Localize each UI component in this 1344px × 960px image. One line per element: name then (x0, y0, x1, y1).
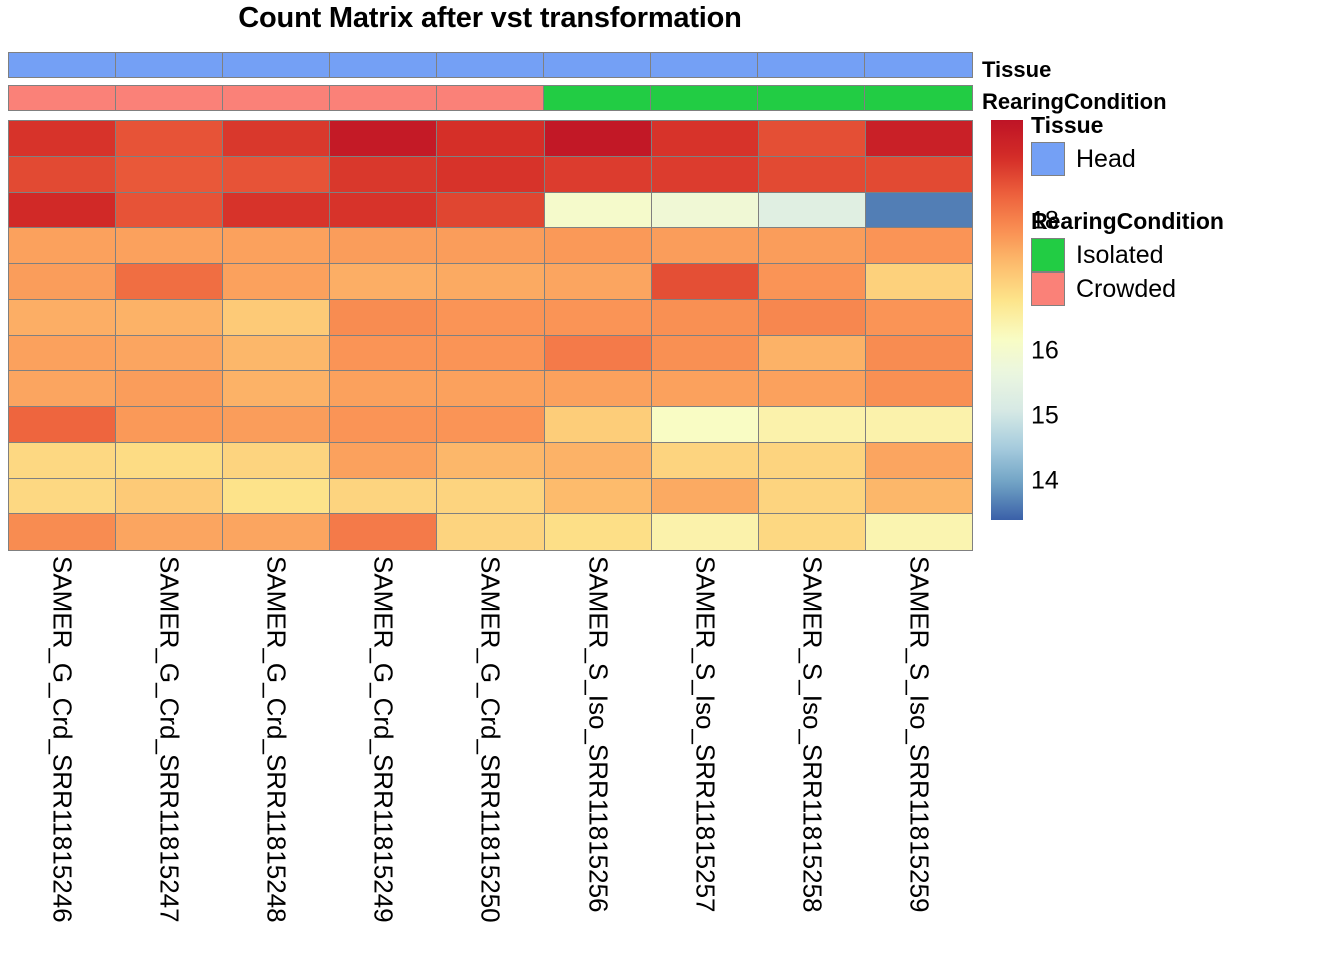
heatmap-cell (437, 121, 544, 157)
heatmap-cell (545, 264, 652, 300)
heatmap-cell (330, 193, 437, 229)
heatmap-cell (116, 157, 223, 193)
column-label-slot: SAMER_G_Crd_SRR11815247 (115, 556, 222, 956)
legend-title-tissue: Tissue (1031, 112, 1136, 139)
heatmap-cell (866, 228, 972, 264)
heatmap-cell (116, 121, 223, 157)
heatmap-cell (545, 407, 652, 443)
column-label-slot: SAMER_S_Iso_SRR11815259 (866, 556, 973, 956)
rearing-annotation-cell (436, 85, 545, 111)
legend-items-tissue: Head (1031, 142, 1136, 176)
heatmap-cell (652, 336, 759, 372)
annotation-label-tissue: Tissue (982, 57, 1051, 83)
colorbar-tick-label: 16 (1031, 336, 1059, 365)
heatmap-cell (866, 479, 972, 515)
heatmap-cell (759, 336, 866, 372)
heatmap-cell (545, 228, 652, 264)
heatmap-row (9, 300, 972, 336)
heatmap-cell (545, 443, 652, 479)
tissue-annotation-cell (757, 52, 866, 78)
rearing-annotation-cell (115, 85, 224, 111)
heatmap-cell (437, 264, 544, 300)
heatmap-cell (437, 336, 544, 372)
heatmap-cell (330, 407, 437, 443)
column-label: SAMER_G_Crd_SRR11815250 (475, 556, 506, 923)
heatmap-cell (652, 228, 759, 264)
heatmap-cell (866, 407, 972, 443)
heatmap-cell (759, 228, 866, 264)
rearing-annotation-cell (543, 85, 652, 111)
heatmap-cell (116, 300, 223, 336)
tissue-annotation-cell (650, 52, 759, 78)
heatmap-cell (437, 371, 544, 407)
heatmap-cell (9, 479, 116, 515)
legend-items-rearing-condition: IsolatedCrowded (1031, 238, 1224, 306)
heatmap-cell (9, 228, 116, 264)
heatmap-cell (437, 514, 544, 550)
rearing-annotation-cell (222, 85, 331, 111)
heatmap-cell (223, 407, 330, 443)
heatmap-figure: Count Matrix after vst transformation Ti… (0, 0, 1344, 960)
heatmap-cell (223, 264, 330, 300)
colorbar-tick-label: 15 (1031, 401, 1059, 430)
legend-rearing-item[interactable]: Crowded (1031, 272, 1224, 306)
legend-rearing-item[interactable]: Isolated (1031, 238, 1224, 272)
heatmap-cell (9, 264, 116, 300)
heatmap-cell (866, 443, 972, 479)
heatmap-cell (9, 443, 116, 479)
heatmap-cell (116, 371, 223, 407)
heatmap-row (9, 371, 972, 407)
annotation-bar-rearing-condition (8, 85, 973, 111)
heatmap-cell (437, 193, 544, 229)
tissue-annotation-cell (543, 52, 652, 78)
heatmap-cell (223, 228, 330, 264)
heatmap-cell (330, 479, 437, 515)
column-label-slot: SAMER_S_Iso_SRR11815257 (651, 556, 758, 956)
page-title: Count Matrix after vst transformation (0, 2, 980, 35)
colorbar-legend: 191817161514 (991, 120, 1023, 520)
heatmap-cell (866, 300, 972, 336)
tissue-annotation-cell (329, 52, 438, 78)
heatmap-cell (866, 121, 972, 157)
rearing-annotation-cell (329, 85, 438, 111)
heatmap-cell (116, 479, 223, 515)
heatmap-cell (223, 121, 330, 157)
heatmap-cell (759, 479, 866, 515)
heatmap-cell (330, 228, 437, 264)
heatmap-row (9, 407, 972, 443)
rearing-annotation-cell (864, 85, 973, 111)
heatmap-cell (759, 514, 866, 550)
heatmap-cell (9, 371, 116, 407)
column-label: SAMER_G_Crd_SRR11815248 (261, 556, 292, 923)
heatmap-cell (759, 193, 866, 229)
column-label: SAMER_S_Iso_SRR11815258 (797, 556, 828, 913)
column-label: SAMER_S_Iso_SRR11815259 (904, 556, 935, 913)
column-label-slot: SAMER_G_Crd_SRR11815250 (437, 556, 544, 956)
colorbar-gradient (991, 120, 1023, 520)
heatmap-cell (223, 300, 330, 336)
heatmap-cell (330, 443, 437, 479)
heatmap-cell (223, 514, 330, 550)
heatmap-cell (545, 479, 652, 515)
heatmap-cell (866, 336, 972, 372)
heatmap-cell (223, 479, 330, 515)
heatmap-cell (9, 336, 116, 372)
heatmap-cell (866, 264, 972, 300)
heatmap-cell (652, 443, 759, 479)
heatmap-cell (866, 193, 972, 229)
heatmap-cell (223, 157, 330, 193)
heatmap-cell (545, 193, 652, 229)
heatmap-cell (652, 479, 759, 515)
column-label-slot: SAMER_G_Crd_SRR11815249 (330, 556, 437, 956)
heatmap-cell (759, 371, 866, 407)
heatmap-row (9, 193, 972, 229)
heatmap-cell (866, 371, 972, 407)
tissue-annotation-cell (864, 52, 973, 78)
heatmap-cell (223, 193, 330, 229)
heatmap-cell (116, 228, 223, 264)
heatmap-cell (652, 193, 759, 229)
heatmap-cell (437, 228, 544, 264)
heatmap-cell (9, 121, 116, 157)
legend-rearing-label: Isolated (1076, 241, 1164, 270)
column-label-slot: SAMER_S_Iso_SRR11815256 (544, 556, 651, 956)
heatmap-cell (652, 264, 759, 300)
heatmap-row (9, 443, 972, 479)
heatmap-cell (545, 371, 652, 407)
column-label: SAMER_G_Crd_SRR11815246 (46, 556, 77, 923)
legend-rearing-label: Crowded (1076, 275, 1176, 304)
legend-tissue-label: Head (1076, 145, 1136, 174)
heatmap-cell (116, 264, 223, 300)
heatmap-cell (437, 443, 544, 479)
heatmap-cell (437, 407, 544, 443)
heatmap-cell (9, 407, 116, 443)
heatmap-row (9, 121, 972, 157)
column-labels: SAMER_G_Crd_SRR11815246SAMER_G_Crd_SRR11… (8, 556, 973, 956)
heatmap-cell (223, 371, 330, 407)
legend-tissue-swatch (1031, 142, 1065, 176)
heatmap-cell (330, 300, 437, 336)
heatmap-cell (223, 443, 330, 479)
heatmap-cell (759, 443, 866, 479)
heatmap-cell (9, 300, 116, 336)
legend-rearing-swatch (1031, 238, 1065, 272)
rearing-annotation-cell (650, 85, 759, 111)
heatmap-row (9, 228, 972, 264)
rearing-annotation-cell (757, 85, 866, 111)
heatmap-cell (9, 514, 116, 550)
heatmap-cell (759, 264, 866, 300)
column-label: SAMER_S_Iso_SRR11815257 (689, 556, 720, 913)
heatmap-cell (652, 514, 759, 550)
tissue-annotation-cell (436, 52, 545, 78)
heatmap-cell (652, 300, 759, 336)
heatmap-cell (545, 121, 652, 157)
heatmap-cell (330, 121, 437, 157)
heatmap-row (9, 157, 972, 193)
heatmap-cell (545, 514, 652, 550)
heatmap-cell (116, 407, 223, 443)
heatmap-cell (437, 300, 544, 336)
heatmap-cell (330, 157, 437, 193)
heatmap-cell (116, 336, 223, 372)
legend-rearing-condition: RearingCondition IsolatedCrowded (1031, 208, 1224, 306)
heatmap-cell (866, 157, 972, 193)
tissue-annotation-cell (115, 52, 224, 78)
tissue-annotation-cell (222, 52, 331, 78)
heatmap-cell (866, 514, 972, 550)
colorbar-tick-label: 14 (1031, 466, 1059, 495)
heatmap-grid (8, 120, 973, 551)
column-label: SAMER_G_Crd_SRR11815249 (368, 556, 399, 923)
heatmap-cell (330, 371, 437, 407)
heatmap-cell (759, 300, 866, 336)
tissue-annotation-cell (8, 52, 117, 78)
heatmap-row (9, 264, 972, 300)
column-label: SAMER_G_Crd_SRR11815247 (153, 556, 184, 923)
heatmap-cell (652, 371, 759, 407)
heatmap-cell (759, 157, 866, 193)
heatmap-row (9, 336, 972, 372)
column-label-slot: SAMER_G_Crd_SRR11815248 (222, 556, 329, 956)
heatmap-cell (116, 514, 223, 550)
heatmap-cell (545, 300, 652, 336)
legend-title-rearing-condition: RearingCondition (1031, 208, 1224, 235)
heatmap-cell (759, 121, 866, 157)
heatmap-cell (652, 407, 759, 443)
annotation-bar-tissue (8, 52, 973, 78)
heatmap-cell (330, 514, 437, 550)
heatmap-cell (652, 157, 759, 193)
heatmap-cell (652, 121, 759, 157)
column-label-slot: SAMER_G_Crd_SRR11815246 (8, 556, 115, 956)
heatmap-row (9, 514, 972, 550)
heatmap-cell (116, 193, 223, 229)
heatmap-cell (330, 336, 437, 372)
heatmap-cell (9, 193, 116, 229)
heatmap-cell (759, 407, 866, 443)
column-label-slot: SAMER_S_Iso_SRR11815258 (759, 556, 866, 956)
heatmap-cell (9, 157, 116, 193)
heatmap-cell (116, 443, 223, 479)
heatmap-row (9, 479, 972, 515)
legend-rearing-swatch (1031, 272, 1065, 306)
legend-tissue: Tissue Head (1031, 112, 1136, 176)
rearing-annotation-cell (8, 85, 117, 111)
heatmap-cell (330, 264, 437, 300)
legend-tissue-item[interactable]: Head (1031, 142, 1136, 176)
heatmap-cell (545, 336, 652, 372)
heatmap-cell (545, 157, 652, 193)
heatmap-cell (437, 157, 544, 193)
heatmap-cell (437, 479, 544, 515)
column-label: SAMER_S_Iso_SRR11815256 (582, 556, 613, 913)
heatmap-cell (223, 336, 330, 372)
